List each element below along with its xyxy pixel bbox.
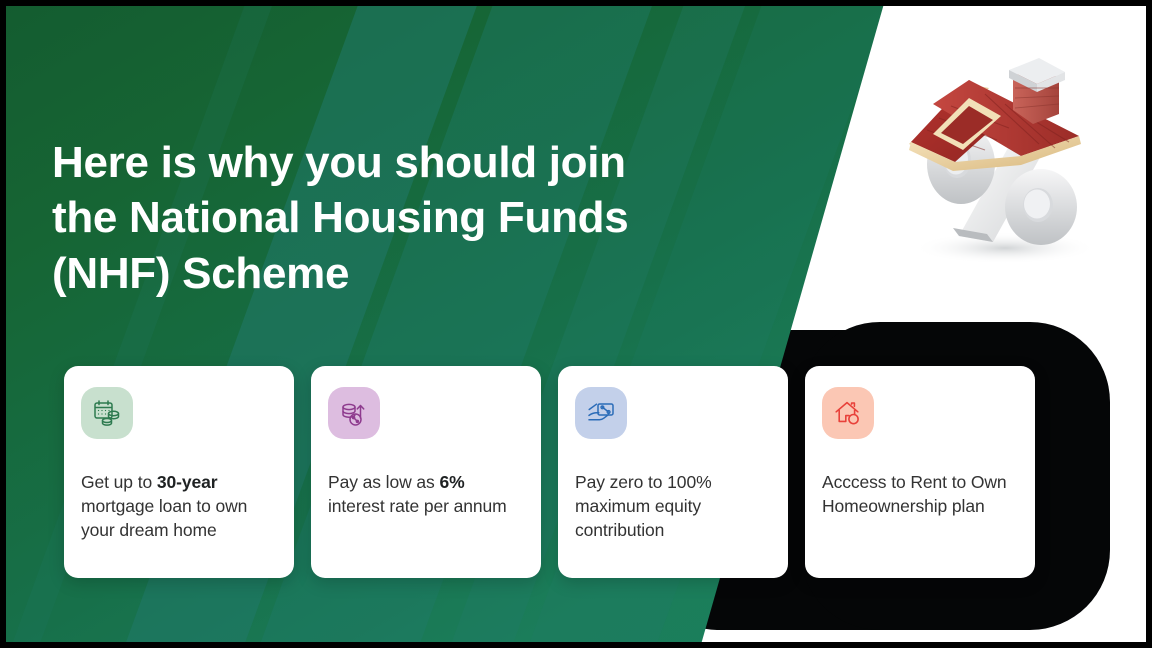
icon-tile-2 bbox=[328, 387, 380, 439]
icon-tile-4 bbox=[822, 387, 874, 439]
house-circle-icon bbox=[833, 398, 863, 428]
feature-card-six-percent-interest[interactable]: Pay as low as 6% interest rate per annum bbox=[311, 366, 541, 578]
card-text-4: Acccess to Rent to Own Homeownership pla… bbox=[822, 470, 1017, 518]
card-2-text-bold: 6% bbox=[439, 472, 464, 492]
card-1-text-before: Get up to bbox=[81, 472, 157, 492]
feature-cards-row: Get up to 30-year mortgage loan to own y… bbox=[64, 366, 1088, 578]
card-text-3: Pay zero to 100% maximum equity contribu… bbox=[575, 470, 770, 542]
hand-percent-card-icon bbox=[586, 398, 616, 428]
card-2-text-after: interest rate per annum bbox=[328, 496, 507, 516]
icon-tile-1 bbox=[81, 387, 133, 439]
card-text-1: Get up to 30-year mortgage loan to own y… bbox=[81, 470, 276, 542]
coins-arrow-percent-icon bbox=[339, 398, 369, 428]
card-4-text-before: Acccess to Rent to Own Homeownership pla… bbox=[822, 472, 1007, 516]
calendar-coins-icon bbox=[92, 398, 122, 428]
card-1-text-bold: 30-year bbox=[157, 472, 218, 492]
feature-card-equity-contribution[interactable]: Pay zero to 100% maximum equity contribu… bbox=[558, 366, 788, 578]
card-text-2: Pay as low as 6% interest rate per annum bbox=[328, 470, 523, 518]
feature-card-rent-to-own[interactable]: Acccess to Rent to Own Homeownership pla… bbox=[805, 366, 1035, 578]
card-2-text-before: Pay as low as bbox=[328, 472, 439, 492]
card-1-text-after: mortgage loan to own your dream home bbox=[81, 496, 247, 540]
feature-card-thirty-year-mortgage[interactable]: Get up to 30-year mortgage loan to own y… bbox=[64, 366, 294, 578]
card-3-text-before: Pay zero to 100% maximum equity contribu… bbox=[575, 472, 712, 540]
percent-house-roof-graphic bbox=[893, 52, 1113, 267]
icon-tile-3 bbox=[575, 387, 627, 439]
promo-banner: Here is why you should join the National… bbox=[0, 0, 1152, 648]
page-title: Here is why you should join the National… bbox=[52, 135, 652, 301]
